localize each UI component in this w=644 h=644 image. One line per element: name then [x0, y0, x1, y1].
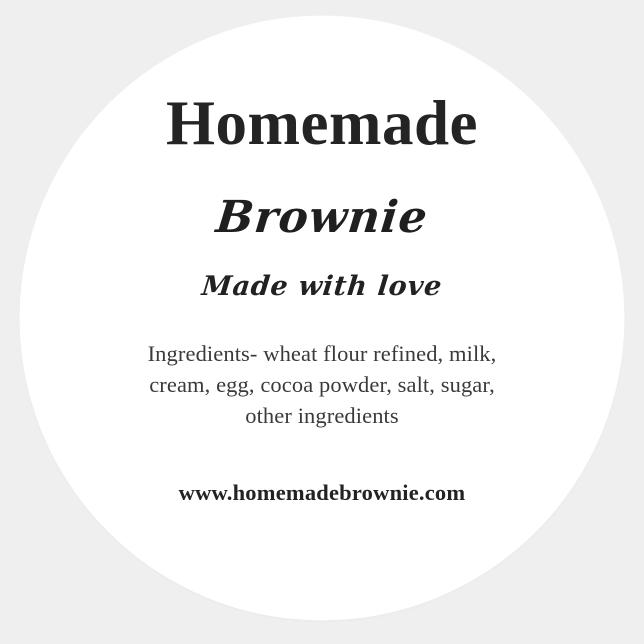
ingredients-line: cream, egg, cocoa powder, salt, sugar,	[92, 369, 552, 400]
sticker-website-url: www.homemadebrownie.com	[0, 479, 644, 506]
sticker-title: Homemade	[0, 92, 644, 155]
sticker-product-name: Brownie	[0, 194, 644, 242]
ingredients-line: other ingredients	[92, 400, 552, 431]
ingredients-block: Ingredients- wheat flour refined, milk, …	[92, 338, 552, 431]
sticker-tagline: Made with love	[0, 271, 644, 302]
sticker-canvas: Homemade Brownie Made with love Ingredie…	[0, 0, 644, 644]
sticker-content: Homemade Brownie Made with love Ingredie…	[0, 0, 644, 644]
ingredients-line: Ingredients- wheat flour refined, milk,	[92, 338, 552, 369]
